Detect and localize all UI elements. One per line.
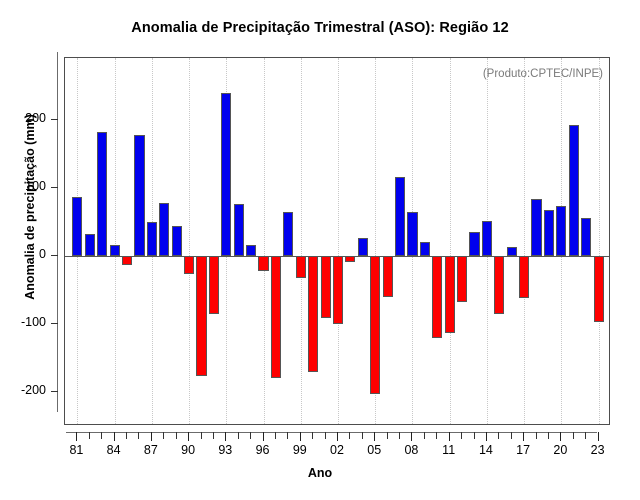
bar-2020 [556,206,566,256]
bar-2011 [445,256,455,333]
x-tick-label: 11 [429,443,469,457]
bar-2018 [531,199,541,256]
x-tick [76,432,77,441]
bar-2005 [370,256,380,394]
x-tick-label: 84 [94,443,134,457]
bar-2022 [581,218,591,256]
x-tick [362,432,363,439]
bar-2010 [432,256,442,338]
y-tick [51,119,58,120]
gridline [301,58,302,424]
x-tick [474,432,475,439]
bar-2013 [469,232,479,256]
bar-2003 [345,256,355,262]
x-tick [225,432,226,441]
y-tick [51,391,58,392]
x-tick-label: 23 [578,443,618,457]
bar-2014 [482,221,492,256]
x-tick [560,432,561,441]
bar-2017 [519,256,529,298]
bar-1999 [296,256,306,278]
x-tick [89,432,90,439]
product-annotation: (Produto:CPTEC/INPE) [483,68,603,80]
x-tick [486,432,487,441]
x-tick [598,432,599,441]
x-tick-label: 05 [354,443,394,457]
x-tick [275,432,276,439]
x-tick [176,432,177,439]
x-tick [163,432,164,439]
x-axis-line [66,432,597,433]
x-tick [101,432,102,439]
gridline [450,58,451,424]
bar-1986 [134,135,144,256]
bar-1998 [283,212,293,256]
bar-1994 [234,204,244,256]
bar-1982 [85,234,95,256]
y-tick [51,255,58,256]
x-tick [498,432,499,439]
x-tick-label: 17 [503,443,543,457]
x-tick [387,432,388,439]
y-axis-title: Anomalia de precipitação (mm) [23,82,37,332]
x-tick [511,432,512,439]
bar-1984 [110,245,120,256]
x-axis-title: Ano [0,466,640,480]
x-tick [585,432,586,439]
x-tick [287,432,288,439]
y-tick-label: 0 [39,247,46,261]
bar-1985 [122,256,132,265]
plot-area: (Produto:CPTEC/INPE) [64,57,610,425]
chart-figure: Anomalia de Precipitação Trimestral (ASO… [0,0,640,500]
bar-2023 [594,256,604,322]
x-tick [411,432,412,441]
bar-1987 [147,222,157,256]
x-tick [312,432,313,439]
x-tick [238,432,239,439]
bar-1991 [196,256,206,376]
x-tick [188,432,189,441]
bar-2015 [494,256,504,314]
x-tick [536,432,537,439]
x-tick [337,432,338,441]
bar-1995 [246,245,256,256]
x-tick [573,432,574,439]
bar-2006 [383,256,393,297]
x-tick [138,432,139,439]
x-tick [213,432,214,439]
x-tick [151,432,152,441]
x-tick [436,432,437,439]
y-axis-line [57,52,58,412]
bar-1996 [258,256,268,271]
x-tick [523,432,524,441]
x-tick-label: 20 [540,443,580,457]
x-tick [114,432,115,441]
bar-2021 [569,125,579,256]
y-tick [51,323,58,324]
bar-1981 [72,197,82,256]
x-tick [548,432,549,439]
bar-2001 [321,256,331,318]
x-tick-label: 02 [317,443,357,457]
bar-2012 [457,256,467,302]
x-tick [374,432,375,441]
bar-1997 [271,256,281,378]
gridline [524,58,525,424]
x-tick [449,432,450,441]
page-title: Anomalia de Precipitação Trimestral (ASO… [0,20,640,36]
bar-1983 [97,132,107,256]
gridline [264,58,265,424]
x-tick [399,432,400,439]
bar-1993 [221,93,231,256]
x-tick [250,432,251,439]
bar-1992 [209,256,219,314]
x-tick-label: 81 [56,443,96,457]
bar-2004 [358,238,368,256]
x-tick [300,432,301,441]
bar-2000 [308,256,318,372]
x-tick-label: 14 [466,443,506,457]
bar-2008 [407,212,417,256]
gridline [599,58,600,424]
x-tick [461,432,462,439]
x-tick-label: 08 [391,443,431,457]
bar-2019 [544,210,554,256]
bar-2002 [333,256,343,324]
x-tick [126,432,127,439]
x-tick-label: 93 [205,443,245,457]
x-tick-label: 96 [243,443,283,457]
y-tick-label: -200 [21,383,46,397]
bar-2009 [420,242,430,256]
gridline [189,58,190,424]
x-tick-label: 87 [131,443,171,457]
x-tick [201,432,202,439]
bar-1989 [172,226,182,256]
x-tick-label: 99 [280,443,320,457]
x-tick [325,432,326,439]
x-tick-label: 90 [168,443,208,457]
x-tick [263,432,264,441]
bar-1990 [184,256,194,274]
y-tick [51,187,58,188]
bar-1988 [159,203,169,256]
x-tick [349,432,350,439]
gridline [115,58,116,424]
gridline [338,58,339,424]
bar-2016 [507,247,517,256]
x-tick [424,432,425,439]
bar-2007 [395,177,405,256]
